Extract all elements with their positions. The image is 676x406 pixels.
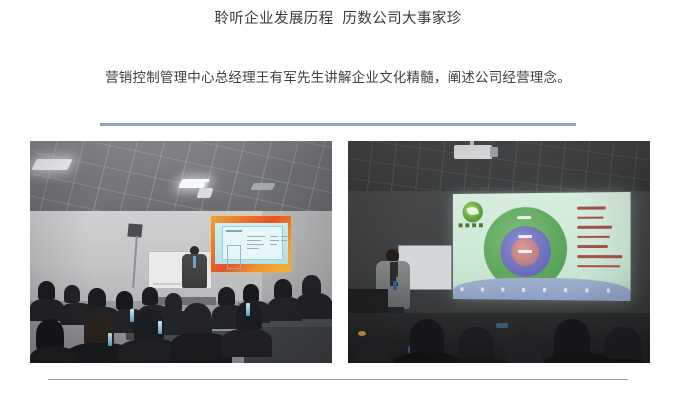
slide-bullet-list xyxy=(577,206,624,274)
audience-shoulders-front xyxy=(30,347,78,363)
top-divider-rule xyxy=(100,123,576,126)
slide-text-line xyxy=(270,236,278,237)
slide-bullet-item xyxy=(577,265,620,268)
body-paragraph: 营销控制管理中心总经理王有军先生讲解企业文化精髓，阐述公司经营理念。 xyxy=(100,66,576,90)
ceiling-vent-icon xyxy=(250,183,275,190)
audience-member xyxy=(142,287,158,305)
water-bottle xyxy=(246,303,250,316)
audience-member xyxy=(218,287,235,306)
audience-member xyxy=(64,285,80,303)
audience-member-front xyxy=(358,337,390,363)
photo-presenter-with-circle-diagram-slide xyxy=(348,141,650,363)
slide-text-line xyxy=(247,244,264,245)
ceiling-lamp-icon xyxy=(31,159,72,170)
slide-bullet-item xyxy=(577,216,604,219)
audience-member xyxy=(88,288,106,308)
slide-bullet-item xyxy=(577,236,610,239)
slide-text-line xyxy=(247,236,265,237)
audience-shoulders-front xyxy=(222,329,272,357)
audience-member xyxy=(274,279,292,299)
water-bottle xyxy=(108,333,112,346)
diagram-inner-label xyxy=(518,250,532,253)
audience-shoulders xyxy=(296,293,332,319)
slide-text-line xyxy=(270,244,277,245)
slide-bullet-item xyxy=(577,255,622,258)
slide-text-line xyxy=(226,230,242,232)
audience-member-front xyxy=(458,327,494,363)
audience-member-front xyxy=(604,327,642,363)
diagram-inner-circle xyxy=(511,238,539,266)
slide-text-line xyxy=(281,236,289,237)
projector-lens-icon xyxy=(490,147,498,157)
slide-bullet-item xyxy=(577,245,608,248)
audience-member xyxy=(116,291,133,310)
slide-text-line xyxy=(281,240,287,241)
slide-text-line xyxy=(247,248,259,249)
slide-bullet-item xyxy=(577,226,612,229)
slide-text-line xyxy=(270,240,279,241)
desk-row xyxy=(148,297,216,305)
device-screen-glow xyxy=(496,323,508,328)
leaf-shape-icon xyxy=(466,205,479,217)
water-bottle xyxy=(158,321,162,334)
audience-shoulders xyxy=(30,299,64,321)
diagram-outer-label xyxy=(517,216,531,219)
slide-text-box xyxy=(227,245,241,269)
presenter-lanyard-badge xyxy=(393,281,397,290)
page-title: 聆听企业发展历程 历数公司大事家珍 xyxy=(0,9,676,29)
photo-lecture-hall-wide-shot xyxy=(30,141,332,363)
audience-member-front xyxy=(182,303,212,337)
company-logo-icon xyxy=(463,202,483,223)
ceiling-projector-icon xyxy=(454,145,492,159)
slide-footer-band xyxy=(453,277,631,301)
bottom-divider-rule xyxy=(48,379,628,380)
photo-right-scene xyxy=(348,141,650,363)
slide-document-area xyxy=(222,226,283,260)
presenter-tie xyxy=(193,256,196,268)
audience-member-front xyxy=(508,333,542,363)
projection-screen xyxy=(211,216,291,272)
reflection-highlight xyxy=(358,331,366,336)
water-bottle xyxy=(130,309,134,322)
slide-text-line xyxy=(247,240,261,241)
photo-left-scene xyxy=(30,141,332,363)
audience-member-front xyxy=(410,319,444,357)
diagram-middle-circle xyxy=(500,226,551,277)
projection-screen-inner xyxy=(215,223,288,264)
projection-screen xyxy=(453,192,631,301)
logo-wordmark xyxy=(459,223,486,227)
audience-member xyxy=(38,281,55,300)
slide-bullet-item xyxy=(577,206,606,209)
audience-member xyxy=(243,284,259,302)
